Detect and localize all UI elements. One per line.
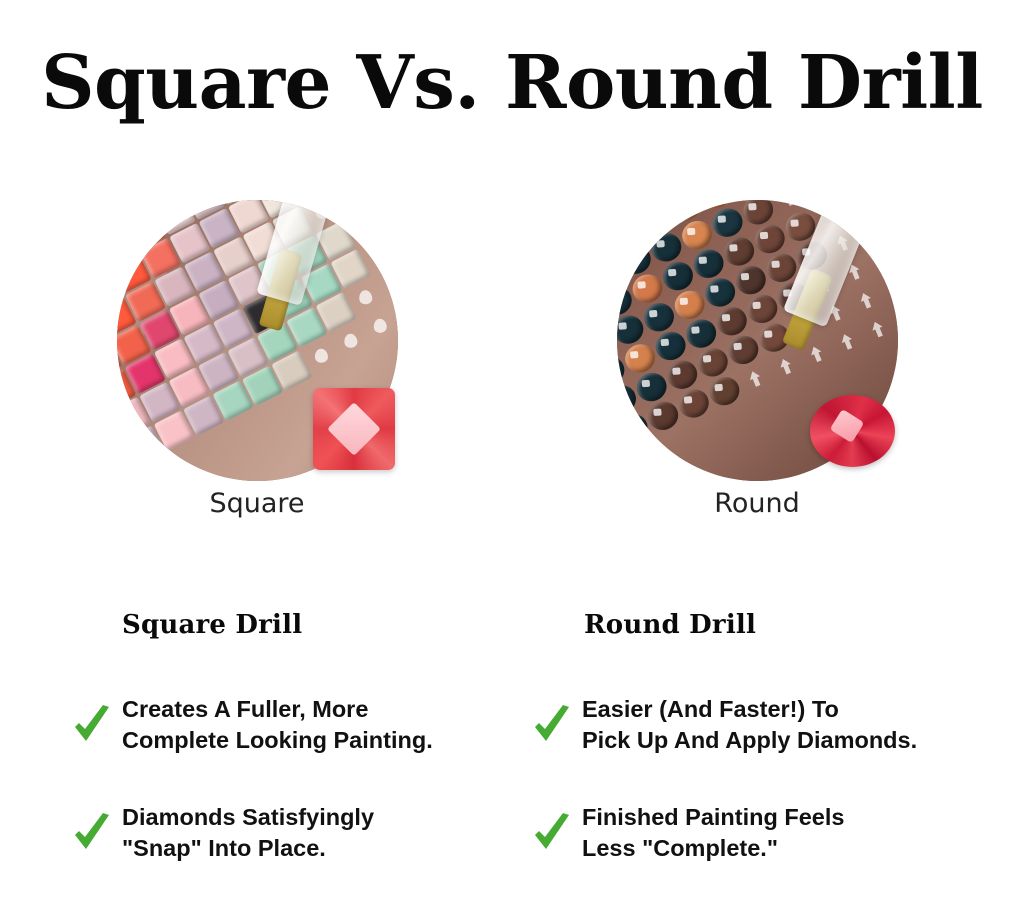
drill-bead [705, 372, 743, 409]
drill-bead [743, 290, 781, 327]
list-item: Easier (And Faster!) To Pick Up And Appl… [532, 692, 1002, 758]
round-gem-icon [810, 395, 895, 467]
drill-bead [724, 331, 762, 368]
photo-comparison-row [0, 200, 1024, 485]
drill-bead [632, 368, 670, 405]
drill-bead [651, 327, 689, 364]
drill-bead [713, 302, 751, 339]
drill-bead [751, 220, 789, 257]
drill-bead [640, 298, 678, 335]
drill-bead [628, 270, 666, 307]
drill-bead [708, 204, 746, 241]
benefit-text: Creates A Fuller, More Complete Looking … [122, 694, 433, 757]
drill-bead [621, 340, 659, 377]
drill-bead [694, 344, 732, 381]
check-mark-icon [532, 811, 572, 855]
photo-column-square [112, 200, 402, 485]
benefit-list-round: Easier (And Faster!) To Pick Up And Appl… [532, 692, 1002, 908]
list-item: Finished Painting Feels Less "Complete." [532, 800, 1002, 866]
drill-bead [659, 257, 697, 294]
check-mark-icon [72, 811, 112, 855]
drill-bead [689, 245, 727, 282]
drill-bead [617, 241, 655, 278]
photo-caption-square: Square [112, 488, 402, 519]
drill-bead [678, 216, 716, 253]
list-item: Diamonds Satisfyingly "Snap" Into Place. [72, 800, 542, 866]
drill-bead [732, 261, 770, 298]
photo-column-round [612, 200, 902, 485]
check-mark-icon [72, 703, 112, 747]
drill-bead [701, 274, 739, 311]
benefit-list-square: Creates A Fuller, More Complete Looking … [72, 692, 542, 908]
benefit-text: Easier (And Faster!) To Pick Up And Appl… [582, 694, 917, 757]
drill-bead [636, 200, 674, 237]
benefit-text: Diamonds Satisfyingly "Snap" Into Place. [122, 802, 374, 865]
drill-bead [682, 315, 720, 352]
list-item: Creates A Fuller, More Complete Looking … [72, 692, 542, 758]
canvas-cell [858, 310, 896, 347]
square-gem-icon [313, 388, 395, 470]
check-mark-icon [532, 703, 572, 747]
drill-bead [670, 286, 708, 323]
heading-round-drill: Round Drill [584, 610, 756, 640]
canvas-cell [847, 282, 885, 319]
drill-bead [644, 397, 682, 434]
canvas-cell [828, 323, 866, 360]
drill-bead [675, 385, 713, 422]
canvas-cell [866, 241, 898, 278]
page-title: Square Vs. Round Drill [0, 46, 1024, 120]
drill-bead [647, 229, 685, 266]
canvas-cell [736, 360, 774, 397]
heading-square-drill: Square Drill [122, 610, 302, 640]
drill-bead [663, 356, 701, 393]
benefit-text: Finished Painting Feels Less "Complete." [582, 802, 844, 865]
drill-bead [617, 409, 652, 446]
photo-caption-round: Round [612, 488, 902, 519]
drill-bead [720, 233, 758, 270]
